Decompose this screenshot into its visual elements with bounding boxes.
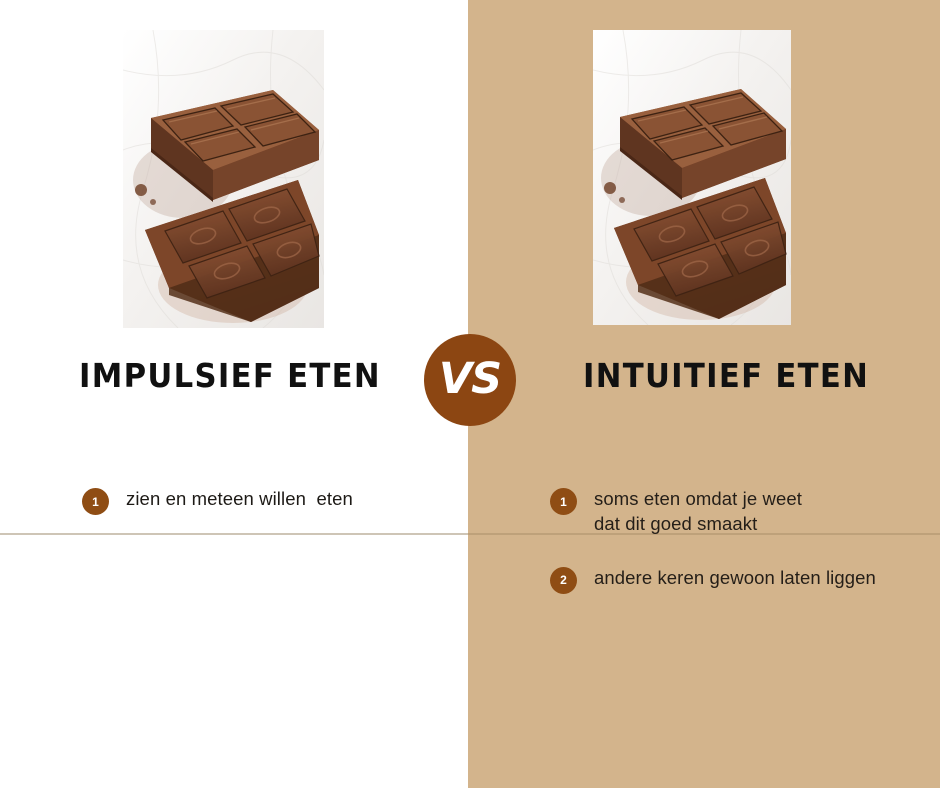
- left-panel-title: IMPULSIEF ETEN: [79, 356, 381, 395]
- bullet-number-badge: 1: [82, 488, 109, 515]
- bullet-text: soms eten omdat je weet dat dit goed sma…: [594, 487, 802, 537]
- comparison-infographic: IMPULSIEF ETEN INTUITIEF ETEN VS 1 zien …: [0, 0, 940, 788]
- bullet-text: zien en meteen willen eten: [126, 487, 353, 512]
- left-bullet-list: 1 zien en meteen willen eten: [82, 487, 452, 515]
- right-panel-title: INTUITIEF ETEN: [583, 356, 869, 395]
- list-item: 1 zien en meteen willen eten: [82, 487, 452, 515]
- bullet-number-badge: 2: [550, 567, 577, 594]
- right-bullet-list: 1 soms eten omdat je weet dat dit goed s…: [550, 487, 940, 594]
- vs-badge-label: VS: [439, 358, 501, 401]
- list-item: 2 andere keren gewoon laten liggen: [550, 566, 940, 594]
- left-chocolate-photo: [123, 30, 324, 328]
- bullet-text: andere keren gewoon laten liggen: [594, 566, 876, 591]
- list-item: 1 soms eten omdat je weet dat dit goed s…: [550, 487, 940, 537]
- bullet-number-badge: 1: [550, 488, 577, 515]
- right-chocolate-photo: [593, 30, 791, 325]
- vs-badge: VS: [424, 334, 516, 426]
